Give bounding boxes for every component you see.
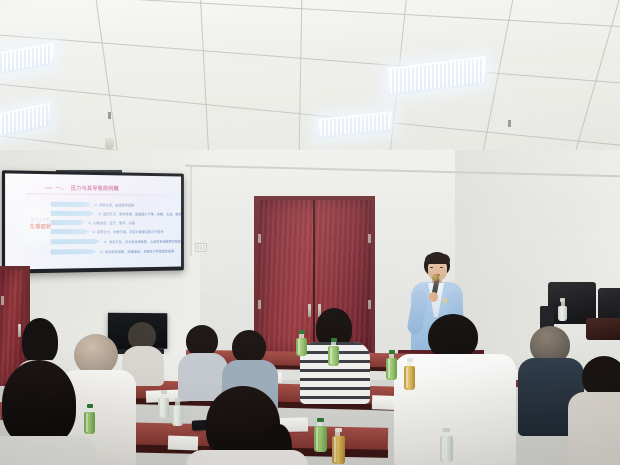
- switch-toggle[interactable]: [197, 245, 199, 250]
- slide-bullet-text: 4）疲劳乏力、食欲不振、记忆力减退注意力不集中: [92, 229, 164, 234]
- water-bottle-green-3[interactable]: [386, 350, 397, 380]
- slide-bullet-bar: [51, 239, 101, 244]
- bottle-highlight: [298, 339, 300, 354]
- attendee-hair: [2, 360, 76, 446]
- light-switch-plate[interactable]: [195, 243, 207, 252]
- slide-bullet-text: 6）慢性疼痛加剧、情绪波动、长期压力导致慢性疾病: [100, 248, 174, 254]
- slide-title-row: 一、 压力与其导致的问题: [45, 183, 163, 192]
- door-handle[interactable]: [18, 324, 21, 337]
- switch-toggle[interactable]: [203, 245, 205, 250]
- water-bottle-green-5[interactable]: [314, 418, 327, 452]
- attendee-torso: [0, 436, 96, 465]
- presenter-hair-fringe: [425, 254, 450, 264]
- door-center-double[interactable]: [258, 200, 371, 352]
- bottle-body: [558, 306, 567, 321]
- slide-title-marker: 一、: [56, 184, 67, 191]
- presenter-badge: [443, 298, 447, 303]
- slide-bullet-row: 6）慢性疼痛加剧、情绪波动、长期压力导致慢性疾病: [51, 248, 175, 254]
- microphone-head-icon: [432, 274, 439, 281]
- slide-bullet-bar: [51, 249, 97, 255]
- door-hinge-top: [258, 234, 261, 243]
- slide-bullet-bar: [51, 211, 95, 216]
- slide-bullet-text: 1）呼吸急促、血液循环加快: [94, 202, 134, 207]
- attendee-hair: [22, 318, 58, 364]
- slide-title-underline: [26, 193, 174, 196]
- slide-title-dash: [45, 187, 52, 188]
- bottle-highlight: [174, 407, 176, 424]
- slide-bullet-text: 3）心跳加速、出汗、颤抖、头晕: [88, 220, 135, 225]
- wall-corner-seam: [190, 166, 192, 256]
- door-hinge-bottom: [258, 300, 261, 309]
- attendee-torso: [568, 392, 620, 465]
- slide-bullet-row: 4）疲劳乏力、食欲不振、记忆力减退注意力不集中: [51, 229, 164, 234]
- water-bottle-green-2[interactable]: [328, 338, 339, 366]
- door-center-split: [313, 200, 315, 352]
- slide-bullet-bar: [51, 220, 85, 225]
- slide-title-text: 压力与其导致的问题: [71, 184, 119, 192]
- water-bottle-clear-1[interactable]: [158, 390, 169, 418]
- bottle-highlight: [334, 437, 336, 462]
- bottle-highlight: [388, 359, 390, 378]
- water-bottle-clear-3[interactable]: [440, 428, 453, 462]
- slide-bullet-bar: [51, 202, 91, 207]
- ceiling-stub-right: [508, 120, 511, 127]
- slide-surface: 一、 压力与其导致的问题 压力之下的 生理症状 1）呼吸急促、血液循环加快 2）…: [5, 173, 181, 269]
- slide-bullet-text: 2）血压升高、肌肉紧绷、免疫能力下降、失眠、头痛、肠胃不适: [98, 211, 181, 216]
- bottle-highlight: [86, 413, 88, 432]
- slide-bullet-row: 3）心跳加速、出汗、颤抖、头晕: [51, 220, 135, 225]
- water-bottle-green-1[interactable]: [296, 330, 307, 356]
- tea-bottle-amber-2[interactable]: [332, 428, 345, 464]
- conference-room-photo: 一、 压力与其导致的问题 压力之下的 生理症状 1）呼吸急促、血液循环加快 2）…: [0, 0, 620, 465]
- presentation-screen[interactable]: 一、 压力与其导致的问题 压力之下的 生理症状 1）呼吸急促、血液循环加快 2）…: [2, 170, 184, 274]
- smoke-detector-icon: [105, 138, 114, 149]
- door-handle-left[interactable]: [308, 304, 311, 317]
- slide-bullet-row: 1）呼吸急促、血液循环加快: [51, 202, 135, 208]
- door-hinge-right-top: [368, 234, 371, 243]
- water-bottle-green-4[interactable]: [84, 404, 95, 434]
- bottle-highlight: [330, 347, 332, 364]
- water-bottle-clear-2[interactable]: [172, 398, 183, 426]
- bottle-highlight: [406, 367, 408, 388]
- slide-bullet-row: 5）消化不良、内分泌失调紊乱、心血管系统疾病风险提升: [51, 238, 181, 244]
- bottle-highlight: [316, 427, 318, 450]
- tea-bottle-amber[interactable]: [404, 358, 415, 390]
- slide-bullet-text: 5）消化不良、内分泌失调紊乱、心血管系统疾病风险提升: [104, 238, 181, 243]
- presenter-hand: [429, 292, 438, 302]
- door-hinge-right-bottom: [368, 300, 371, 309]
- door-hinge: [1, 296, 4, 305]
- office-chair-rear-3[interactable]: [586, 318, 620, 340]
- slide-bullet-bar: [51, 229, 89, 234]
- handout-paper-7: [168, 435, 198, 450]
- ceiling-stub-left: [108, 112, 111, 119]
- bottle-highlight: [442, 437, 444, 460]
- bottle-highlight: [160, 399, 162, 416]
- water-bottle-green-6[interactable]: [558, 298, 567, 320]
- switch-toggle[interactable]: [200, 245, 202, 250]
- slide-bullet-row: 2）血压升高、肌肉紧绷、免疫能力下降、失眠、头痛、肠胃不适: [51, 211, 181, 216]
- attendee-head: [232, 330, 266, 364]
- attendee-torso: [186, 450, 308, 465]
